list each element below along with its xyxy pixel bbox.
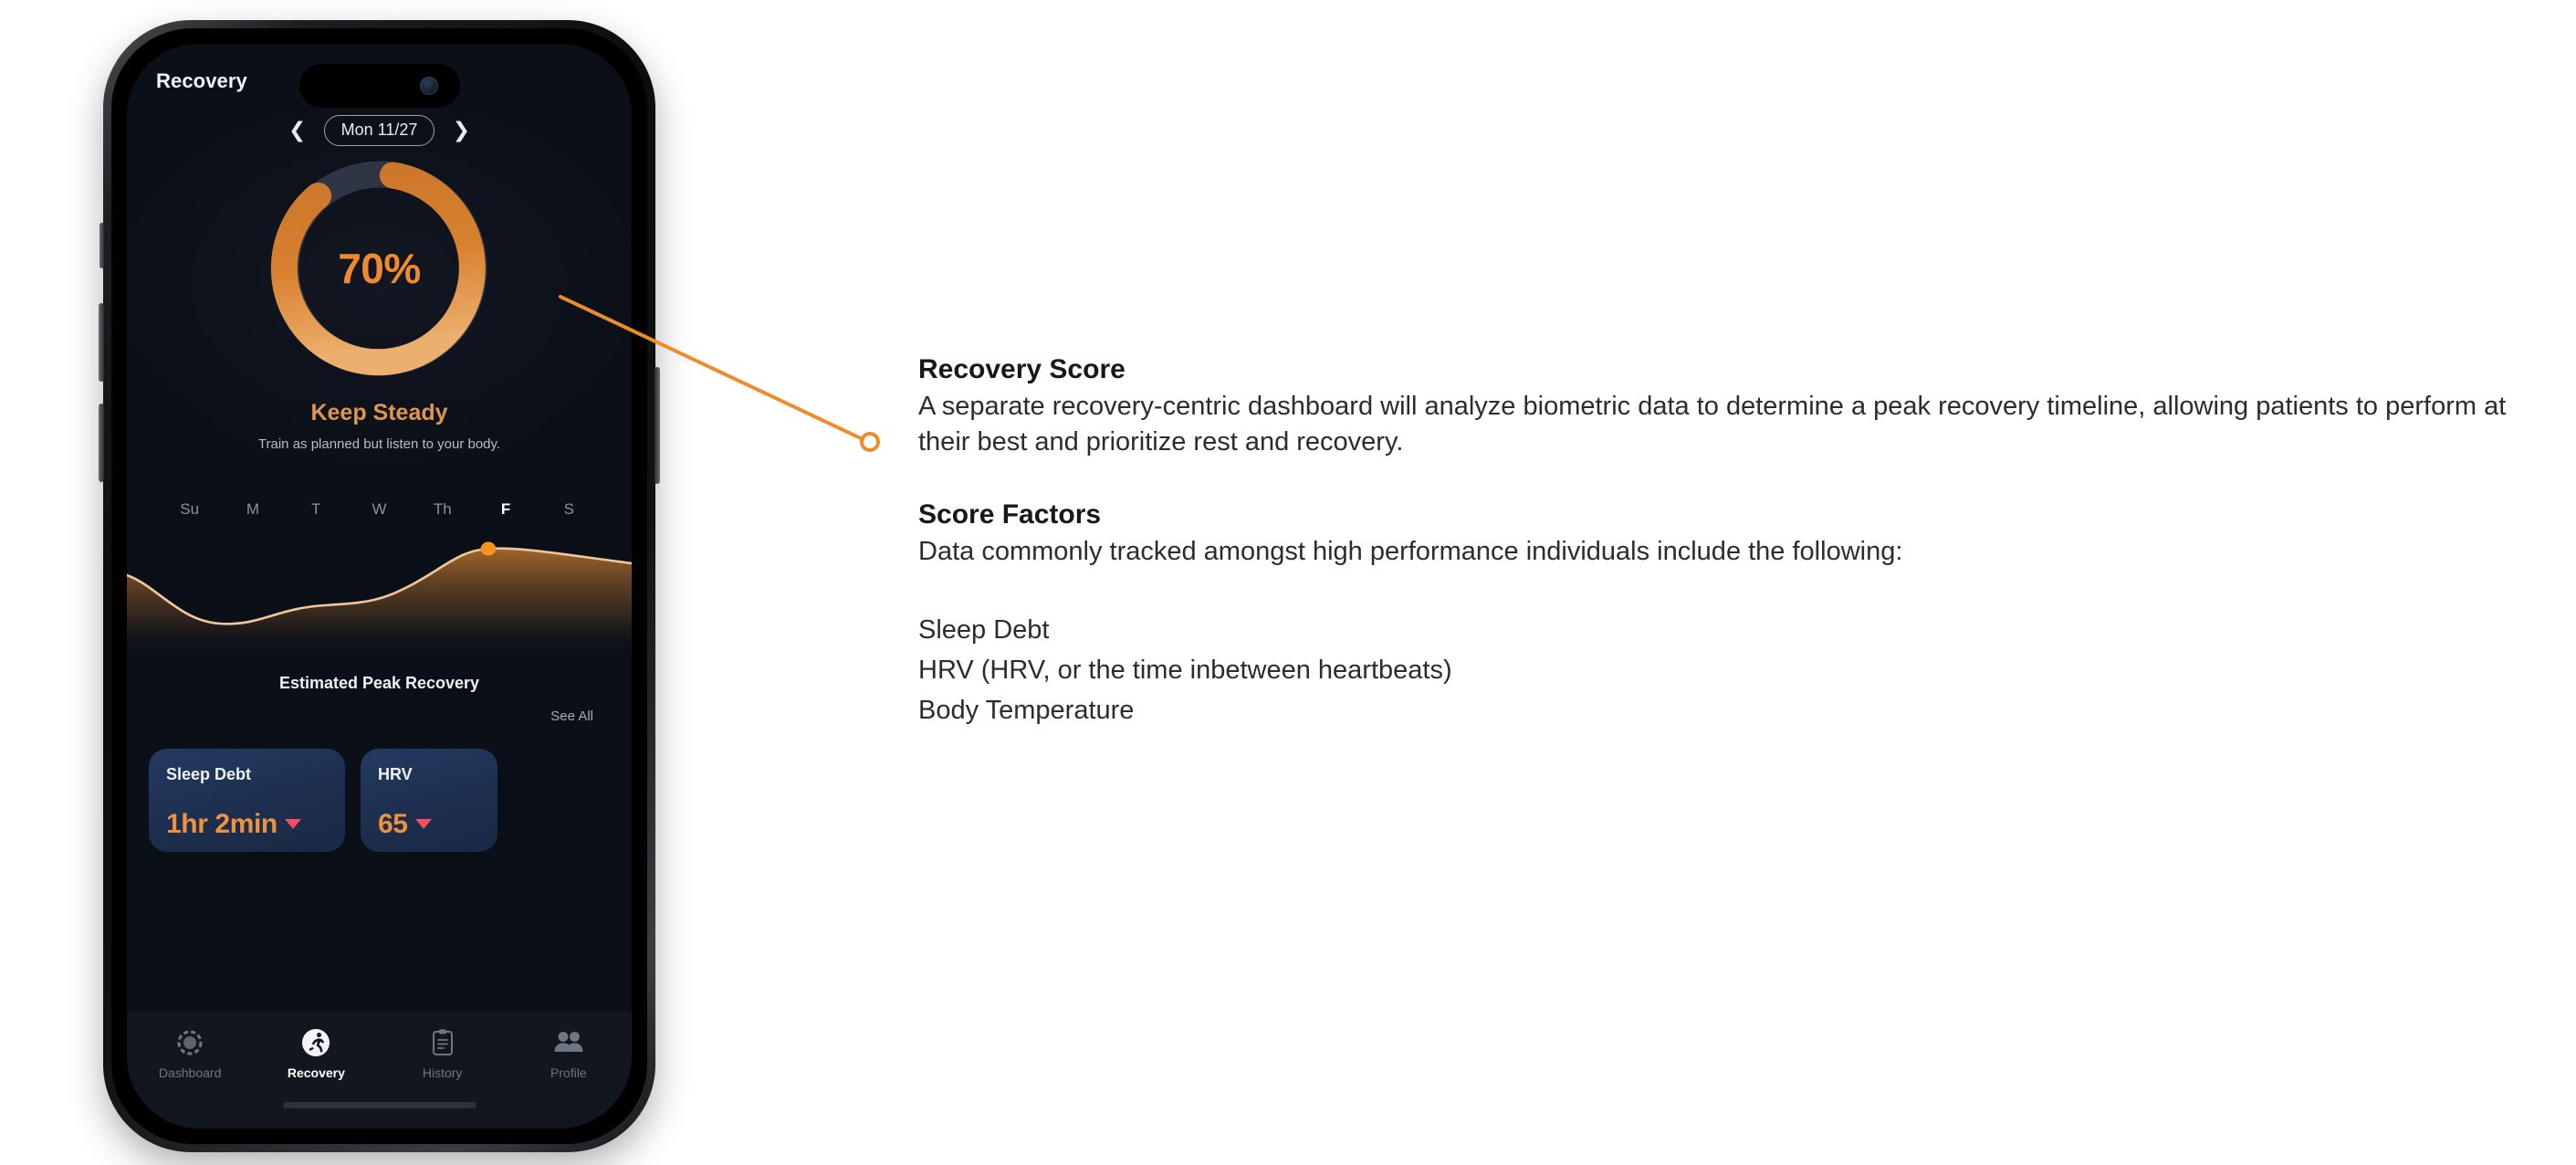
- note-spacer: [918, 461, 2525, 499]
- recovery-trend-chart: [127, 533, 632, 657]
- weekday-su[interactable]: Su: [158, 500, 221, 519]
- note-heading-score-factors: Score Factors: [918, 499, 2525, 530]
- power-button[interactable]: [654, 367, 660, 484]
- date-navigation: ❮ Mon 11/27 ❯: [127, 115, 632, 146]
- factor-item-sleep-debt: Sleep Debt: [918, 610, 2525, 650]
- metric-cards: Sleep Debt 1hr 2min HRV 65: [149, 749, 610, 852]
- dashed-circle-icon: [176, 1026, 204, 1059]
- weekday-f[interactable]: F: [474, 500, 537, 519]
- status-title: Keep Steady: [127, 400, 632, 426]
- annotation-notes: Recovery Score A separate recovery-centr…: [918, 354, 2525, 731]
- metric-label-hrv: HRV: [378, 765, 480, 784]
- silent-switch[interactable]: [99, 223, 104, 268]
- clipboard-icon: [430, 1026, 456, 1059]
- metric-label-sleep-debt: Sleep Debt: [166, 765, 328, 784]
- metric-value-row-hrv: 65: [378, 809, 432, 840]
- circle-endpoint-icon: [862, 434, 878, 450]
- bottom-tab-bar: Dashboard Recovery: [127, 1012, 632, 1128]
- note-spacer: [918, 570, 2525, 610]
- people-icon: [553, 1026, 584, 1059]
- tab-label-dashboard: Dashboard: [159, 1065, 222, 1080]
- page-title: Recovery: [156, 69, 247, 93]
- factor-item-hrv: HRV (HRV, or the time inbetween heartbea…: [918, 650, 2525, 690]
- volume-up-button[interactable]: [99, 303, 104, 382]
- phone-bezel: Recovery ❮ Mon 11/27 ❯: [111, 28, 647, 1144]
- tab-label-profile: Profile: [550, 1065, 587, 1080]
- see-all-link[interactable]: See All: [550, 708, 593, 724]
- note-body-score-factors: Data commonly tracked amongst high perfo…: [918, 534, 2525, 570]
- page-root: Recovery ❮ Mon 11/27 ❯: [0, 0, 2576, 1165]
- running-person-icon: [301, 1026, 330, 1059]
- factor-item-body-temperature: Body Temperature: [918, 690, 2525, 730]
- metric-value-hrv: 65: [378, 809, 408, 840]
- metric-card-sleep-debt[interactable]: Sleep Debt 1hr 2min: [149, 749, 345, 852]
- triangle-down-icon: [415, 819, 432, 829]
- status-subtitle: Train as planned but listen to your body…: [127, 436, 632, 452]
- date-pill[interactable]: Mon 11/27: [324, 115, 435, 146]
- recovery-percent: 70%: [127, 153, 632, 383]
- metric-value-row-sleep-debt: 1hr 2min: [166, 809, 301, 840]
- weekday-m[interactable]: M: [221, 500, 284, 519]
- weekday-row: Su M T W Th F S: [158, 500, 601, 519]
- tab-profile[interactable]: Profile: [506, 1026, 632, 1080]
- home-indicator[interactable]: [283, 1102, 476, 1108]
- front-camera-icon: [420, 77, 438, 95]
- recovery-ring: 70%: [127, 153, 632, 400]
- triangle-down-icon: [285, 819, 301, 829]
- weekday-th[interactable]: Th: [411, 500, 474, 519]
- chart-marker-layer: [127, 533, 632, 657]
- tab-dashboard[interactable]: Dashboard: [127, 1026, 253, 1080]
- volume-down-button[interactable]: [99, 404, 104, 482]
- phone-frame: Recovery ❮ Mon 11/27 ❯: [103, 20, 655, 1152]
- metric-value-sleep-debt: 1hr 2min: [166, 809, 277, 840]
- note-heading-recovery-score: Recovery Score: [918, 354, 2525, 385]
- tab-label-history: History: [423, 1065, 463, 1080]
- metric-card-hrv[interactable]: HRV 65: [361, 749, 497, 852]
- chevron-left-icon[interactable]: ❮: [288, 121, 308, 142]
- chevron-right-icon[interactable]: ❯: [451, 121, 471, 142]
- note-body-recovery-score: A separate recovery-centric dashboard wi…: [918, 389, 2525, 461]
- chart-peak-marker[interactable]: [481, 542, 497, 556]
- tab-recovery[interactable]: Recovery: [253, 1026, 379, 1080]
- phone-screen: Recovery ❮ Mon 11/27 ❯: [127, 44, 632, 1128]
- tab-history[interactable]: History: [380, 1026, 506, 1080]
- weekday-t[interactable]: T: [285, 500, 348, 519]
- tab-label-recovery: Recovery: [288, 1065, 345, 1080]
- weekday-w[interactable]: W: [348, 500, 411, 519]
- phone-mockup: Recovery ❮ Mon 11/27 ❯: [103, 20, 655, 1152]
- weekday-s[interactable]: S: [538, 500, 601, 519]
- peak-recovery-title: Estimated Peak Recovery: [127, 674, 632, 693]
- dynamic-island: [299, 64, 460, 108]
